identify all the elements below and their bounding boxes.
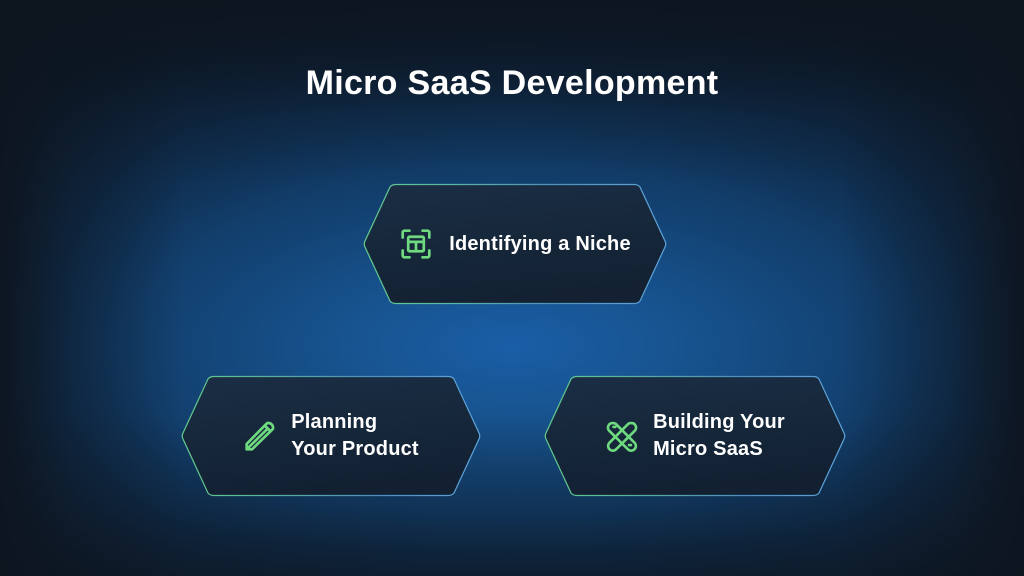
card-label-plan: Planning Your Product — [291, 409, 419, 463]
card-label-build: Building Your Micro SaaS — [653, 409, 785, 463]
card-planning-your-product[interactable]: Planning Your Product — [180, 375, 482, 497]
slide-canvas: Micro SaaS Development — [0, 0, 1024, 576]
pen-icon — [243, 419, 277, 453]
card-label-niche: Identifying a Niche — [449, 231, 631, 258]
card-identifying-a-niche[interactable]: Identifying a Niche — [362, 183, 668, 305]
page-title: Micro SaaS Development — [0, 64, 1024, 103]
crossed-tools-icon — [605, 419, 639, 453]
card-building-your-micro-saas[interactable]: Building Your Micro SaaS — [543, 375, 847, 497]
scan-layout-icon — [399, 227, 433, 261]
